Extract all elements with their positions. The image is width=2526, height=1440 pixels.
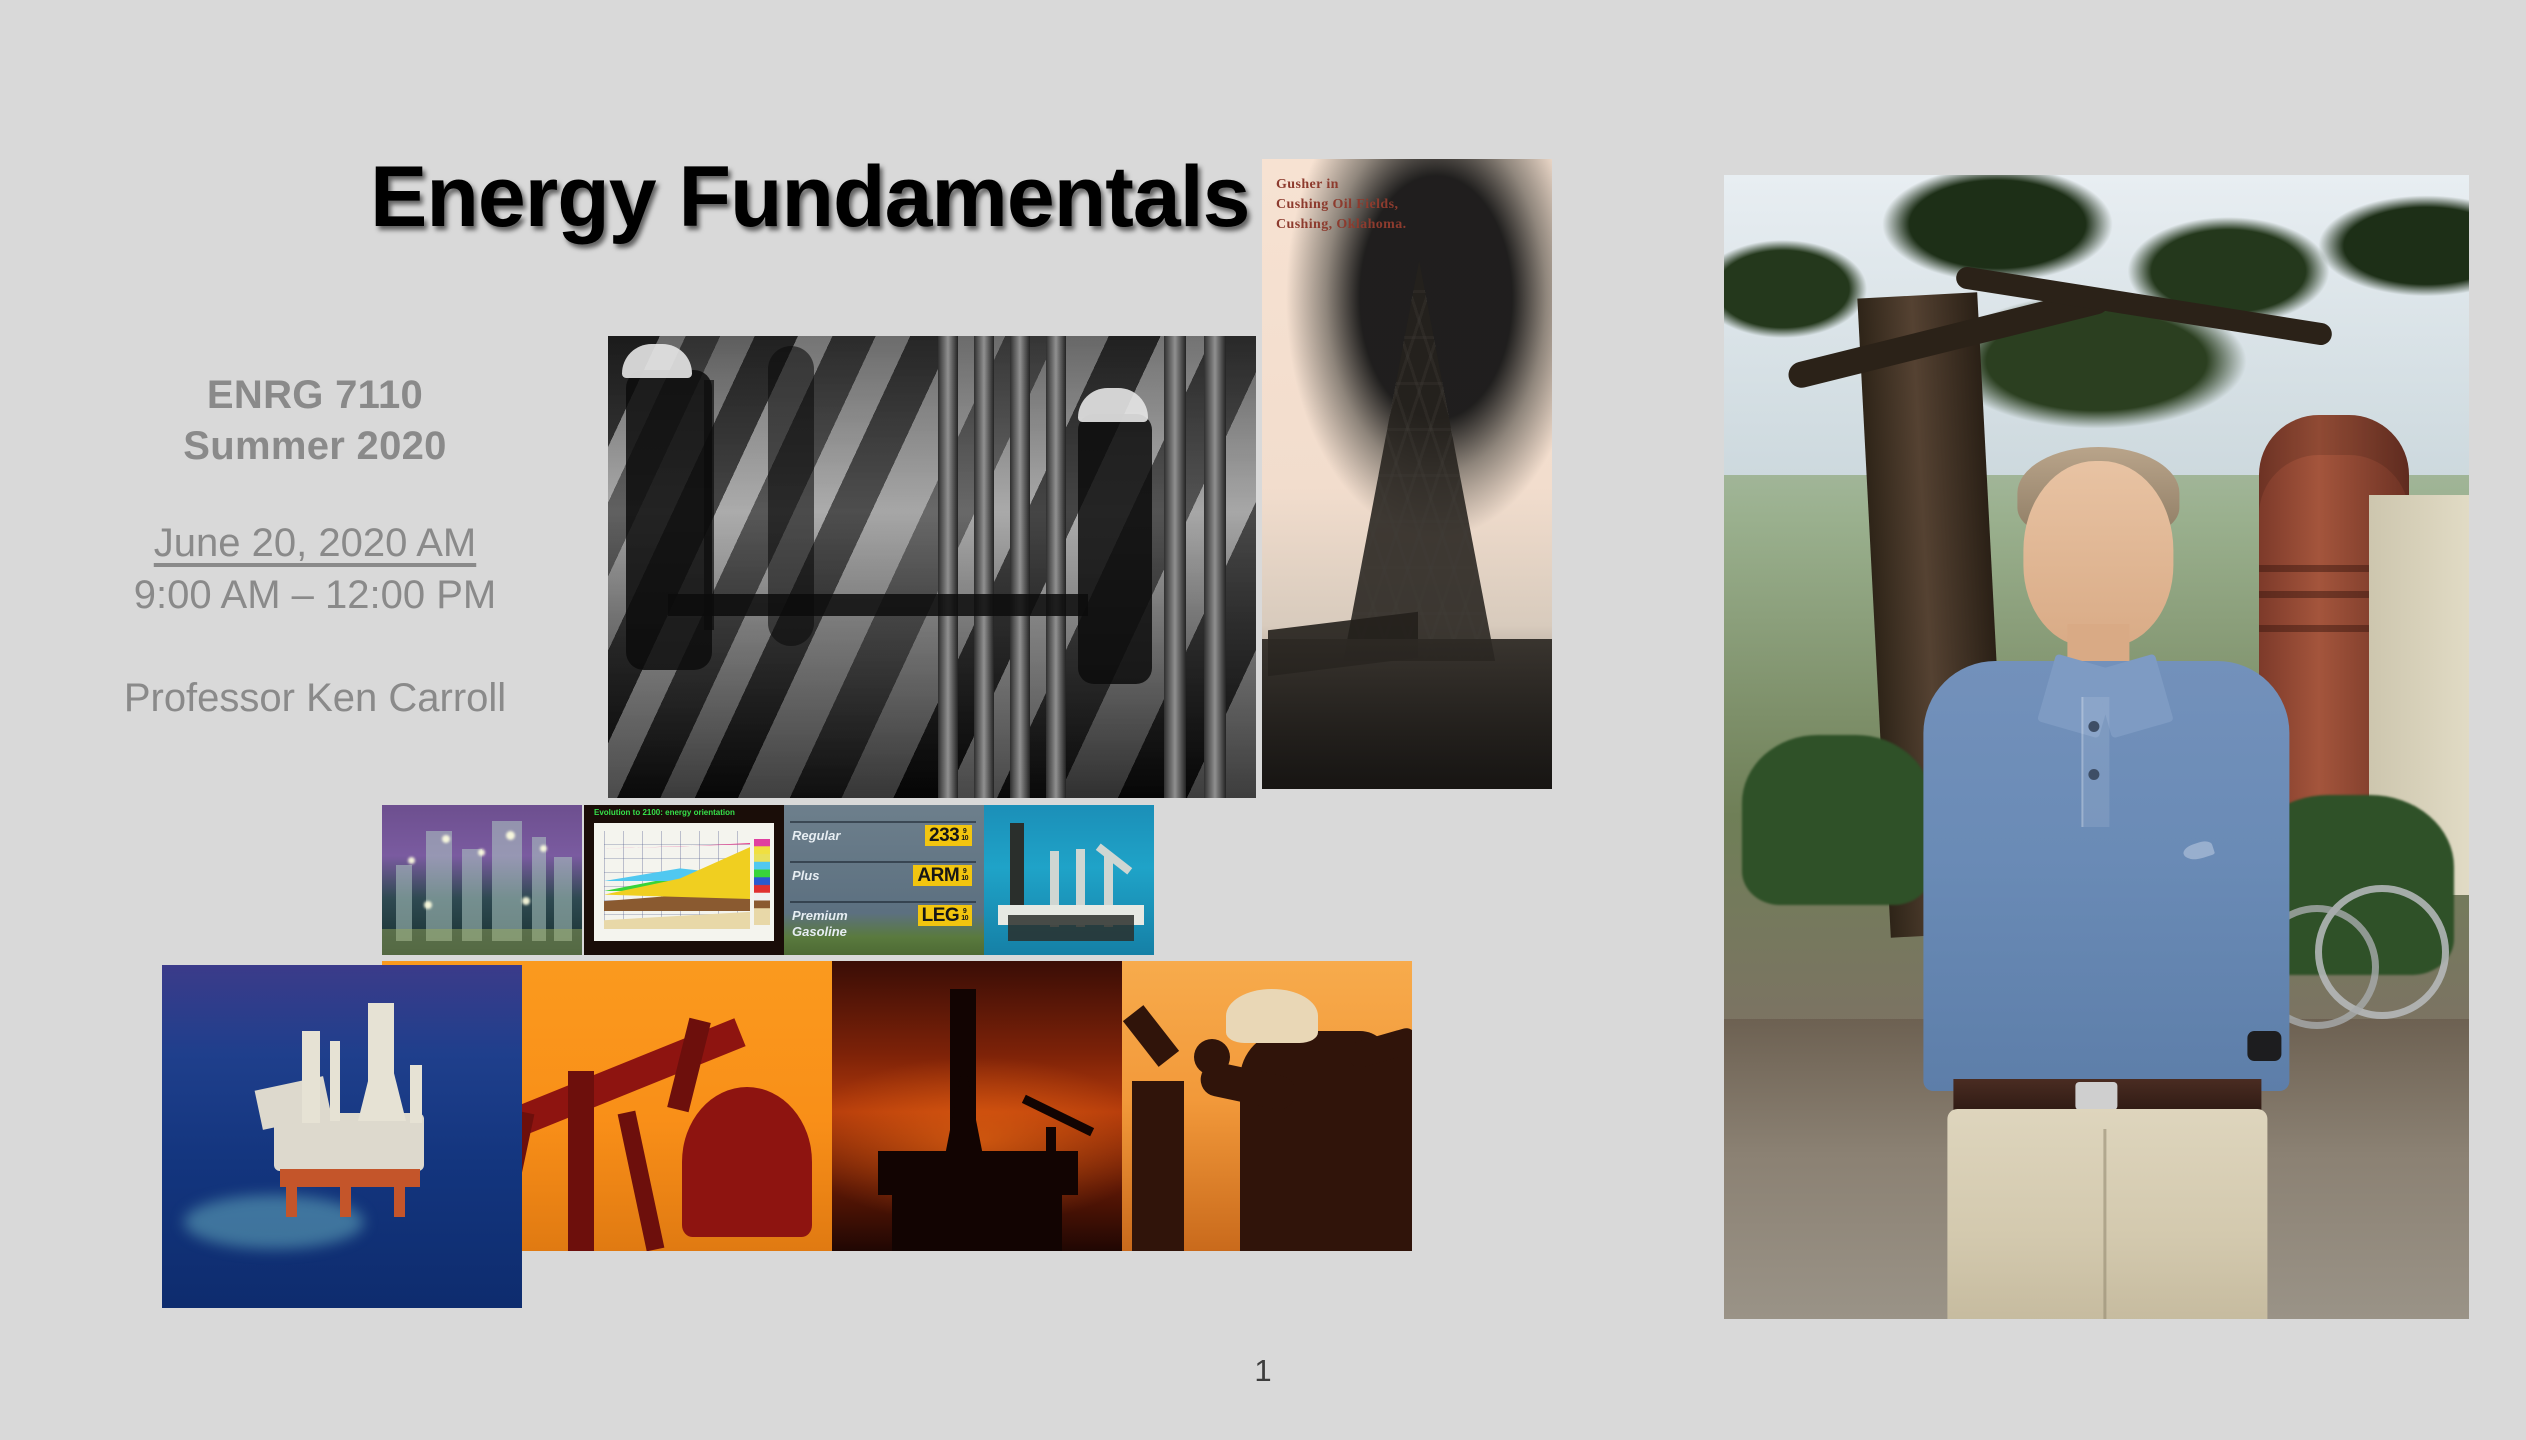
- gas-row-label: Premium: [792, 908, 848, 923]
- gas-price-sign: Regular 233 910 Plus ARM 910 Premium LEG…: [784, 805, 984, 955]
- face: [2023, 461, 2173, 647]
- energy-projection-chart-slide: Evolution to 2100: energy orientation: [584, 805, 784, 955]
- shirt-button: [2088, 721, 2099, 732]
- gas-row-value: ARM 910: [913, 865, 972, 886]
- gusher-postcard: Gusher in Cushing Oil Fields, Cushing, O…: [1262, 159, 1552, 789]
- chart-legend: [754, 839, 770, 925]
- deepwater-platform-aerial: [162, 965, 522, 1308]
- refinery-base: [382, 929, 582, 955]
- shirt-placket: [2081, 697, 2109, 827]
- gas-sign-footer: Gasoline: [792, 924, 847, 939]
- offshore-rig-red-sunset: [832, 961, 1122, 1251]
- person-figure: [1895, 439, 2315, 1319]
- ground: [1262, 639, 1552, 789]
- shirt-button: [2088, 769, 2099, 780]
- gas-row-label: Regular: [792, 828, 840, 843]
- jackup-rig-offshore: [984, 805, 1154, 955]
- refinery-at-dusk: [382, 805, 582, 955]
- postcard-caption: Gusher in Cushing Oil Fields, Cushing, O…: [1276, 175, 1407, 235]
- khaki-pants: [1947, 1109, 2267, 1319]
- professor-portrait: [1724, 175, 2469, 1319]
- gas-row-value: 233 910: [925, 825, 972, 846]
- slide-canvas: Energy Fundamentals ENRG 7110 Summer 202…: [0, 0, 2526, 1440]
- pants-seam: [2103, 1129, 2106, 1319]
- wristwatch: [2247, 1031, 2281, 1061]
- chart-title: Evolution to 2100: energy orientation: [594, 808, 735, 817]
- drilling-crew-historic-photo: [608, 336, 1256, 798]
- page-number: 1: [0, 1353, 2526, 1389]
- gas-row-value: LEG 910: [918, 905, 972, 926]
- derrick-silhouette: [1343, 261, 1495, 661]
- chart-screen: [594, 823, 774, 941]
- belt-buckle: [2075, 1082, 2117, 1110]
- oilfield-worker-valve: [1122, 961, 1412, 1251]
- gas-row-label: Plus: [792, 868, 819, 883]
